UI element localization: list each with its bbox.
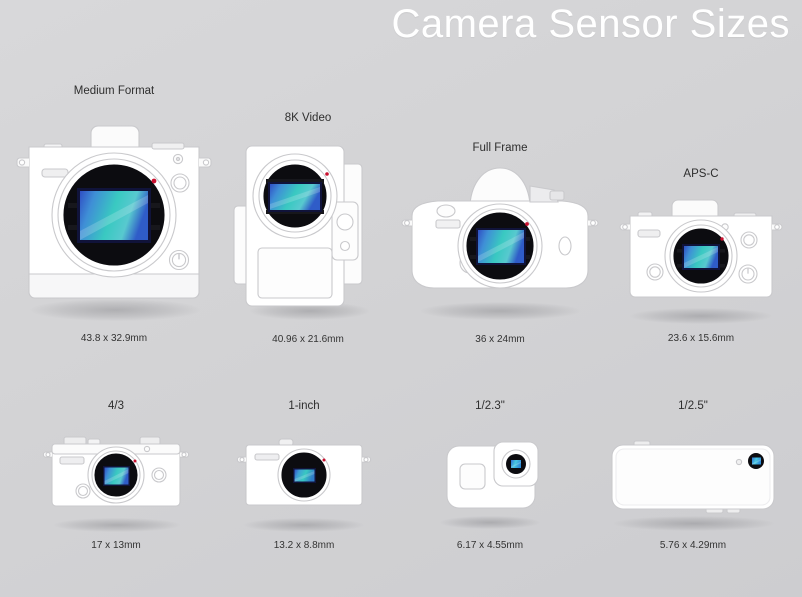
camera-label: APS-C [608,168,794,180]
camera-card-one-over-2-3: 1/2.3" 6.17 [412,400,568,560]
strap-lug-left [43,452,52,457]
power-button-icon [170,251,189,270]
camera-card-full-frame: Full Frame [398,142,602,352]
sensor-medium-format [77,188,151,243]
power-button-icon [739,265,757,283]
page-title: Camera Sensor Sizes [0,2,790,47]
strap-lug-right [199,158,211,167]
camera-label: Full Frame [398,142,602,154]
camera-illustration-four-thirds [30,418,202,538]
strap-lug-left [402,220,412,226]
strap-lug-right [588,220,598,226]
camera-illustration-smartphone [588,418,798,536]
camera-dimensions: 17 x 13mm [30,540,202,551]
sensor-aps-c [682,244,720,270]
camera-illustration-one-inch [222,418,386,538]
camera-illustration-action-cam [412,418,568,536]
strap-lug-right [362,457,371,462]
sensor-smartphone [752,458,761,466]
strap-lug-left [17,158,29,167]
camera-illustration-full-frame [398,158,602,323]
camera-label: 8K Video [228,112,388,124]
sensor-full-frame [476,228,526,265]
camera-card-aps-c: APS-C [608,168,794,353]
camera-dimensions: 6.17 x 4.55mm [412,540,568,551]
camera-illustration-8k-video [228,130,388,325]
sensor-four-thirds [103,466,130,486]
poster-canvas: Camera Sensor Sizes Medium Format [0,0,802,597]
camera-card-four-thirds: 4/3 [30,400,202,560]
camera-card-one-over-2-5: 1/2.5" [588,400,798,560]
camera-dimensions: 23.6 x 15.6mm [608,333,794,344]
strap-lug-right [772,224,782,230]
camera-illustration-aps-c [608,184,794,329]
camera-dimensions: 43.8 x 32.9mm [2,333,226,344]
strap-lug-left [620,224,630,230]
camera-label: 1-inch [222,400,386,412]
camera-label: 1/2.5" [588,400,798,412]
strap-lug-left [237,457,246,462]
camera-dimensions: 5.76 x 4.29mm [588,540,798,551]
camera-dimensions: 13.2 x 8.8mm [222,540,386,551]
camera-card-medium-format: Medium Format [2,85,226,350]
sensor-8k-video [268,182,322,212]
sensor-action-cam [511,460,521,468]
camera-dimensions: 40.96 x 21.6mm [228,334,388,345]
sensor-one-inch [293,468,316,483]
camera-label: 1/2.3" [412,400,568,412]
camera-illustration-medium-format [2,103,226,323]
camera-dimensions: 36 x 24mm [398,334,602,345]
camera-card-8k-video: 8K Video [228,112,388,352]
strap-lug-right [180,452,189,457]
camera-card-one-inch: 1-inch [222,400,386,560]
camera-label: Medium Format [2,85,226,97]
camera-label: 4/3 [30,400,202,412]
